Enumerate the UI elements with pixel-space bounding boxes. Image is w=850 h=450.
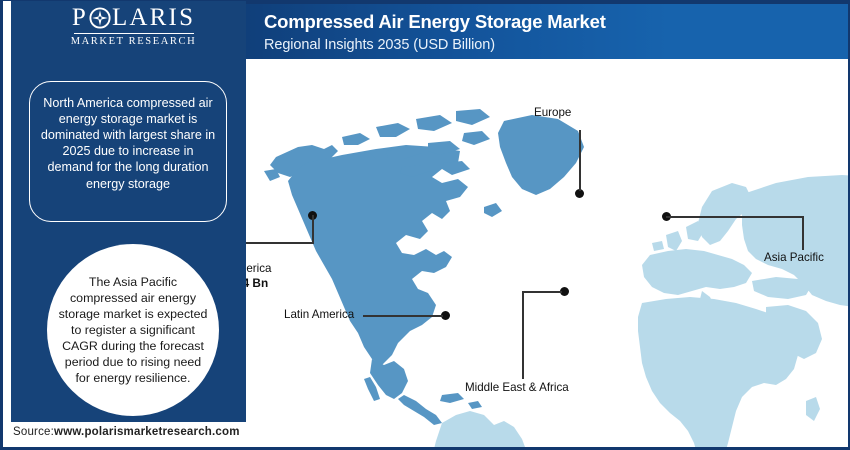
callout-asia-pacific-text: The Asia Pacific compressed air energy s… (57, 274, 209, 387)
left-sidebar-panel: P LARIS MARKET RESEARCH North America co… (11, 1, 246, 422)
page-title: Compressed Air Energy Storage Market (264, 10, 848, 34)
polaris-logo: P LARIS MARKET RESEARCH (21, 5, 246, 47)
callout-north-america: North America compressed air energy stor… (29, 81, 227, 222)
infographic-root: P LARIS MARKET RESEARCH North America co… (0, 0, 850, 450)
leader-line-latin-america (363, 315, 443, 317)
logo-tagline: MARKET RESEARCH (21, 36, 246, 47)
page-subtitle: Regional Insights 2035 (USD Billion) (264, 37, 848, 53)
left-frame-rail (1, 1, 3, 450)
compass-star-icon (89, 7, 111, 29)
callout-asia-pacific: The Asia Pacific compressed air energy s… (47, 244, 219, 416)
leader-line-north-america-horizontal (246, 242, 314, 244)
leader-line-europe (579, 130, 581, 191)
leader-line-mea-vertical (522, 291, 524, 379)
logo-wordmark-part1: P (72, 5, 88, 30)
label-middle-east-africa: Middle East & Africa (465, 381, 569, 395)
world-map-area: North America USD 39.4 Bn Europe Asia Pa… (246, 59, 850, 450)
logo-wordmark-part2: LARIS (112, 5, 195, 30)
leader-line-asia-pacific-vertical (802, 216, 804, 250)
logo-wordmark: P LARIS (21, 5, 246, 30)
label-north-america-value: USD 39.4 Bn (246, 276, 271, 290)
logo-divider (74, 33, 194, 34)
source-url: www.polarismarketresearch.com (54, 426, 240, 438)
leader-line-asia-pacific-horizontal (666, 216, 803, 218)
region-north-america (264, 109, 584, 425)
source-label: Source: (13, 426, 54, 438)
leader-line-mea-horizontal (522, 291, 562, 293)
label-north-america: North America USD 39.4 Bn (246, 262, 271, 291)
label-asia-pacific: Asia Pacific (764, 251, 824, 265)
leader-line-north-america-vertical (312, 215, 314, 243)
label-north-america-name: North America (246, 262, 271, 276)
bottom-frame-rail (1, 447, 850, 449)
map-regions (264, 109, 848, 450)
region-latin-america (422, 411, 532, 450)
label-latin-america: Latin America (284, 308, 354, 322)
header-bar: Compressed Air Energy Storage Market Reg… (246, 1, 850, 59)
source-footer: Source:www.polarismarketresearch.com (13, 426, 240, 438)
label-europe: Europe (534, 106, 571, 120)
